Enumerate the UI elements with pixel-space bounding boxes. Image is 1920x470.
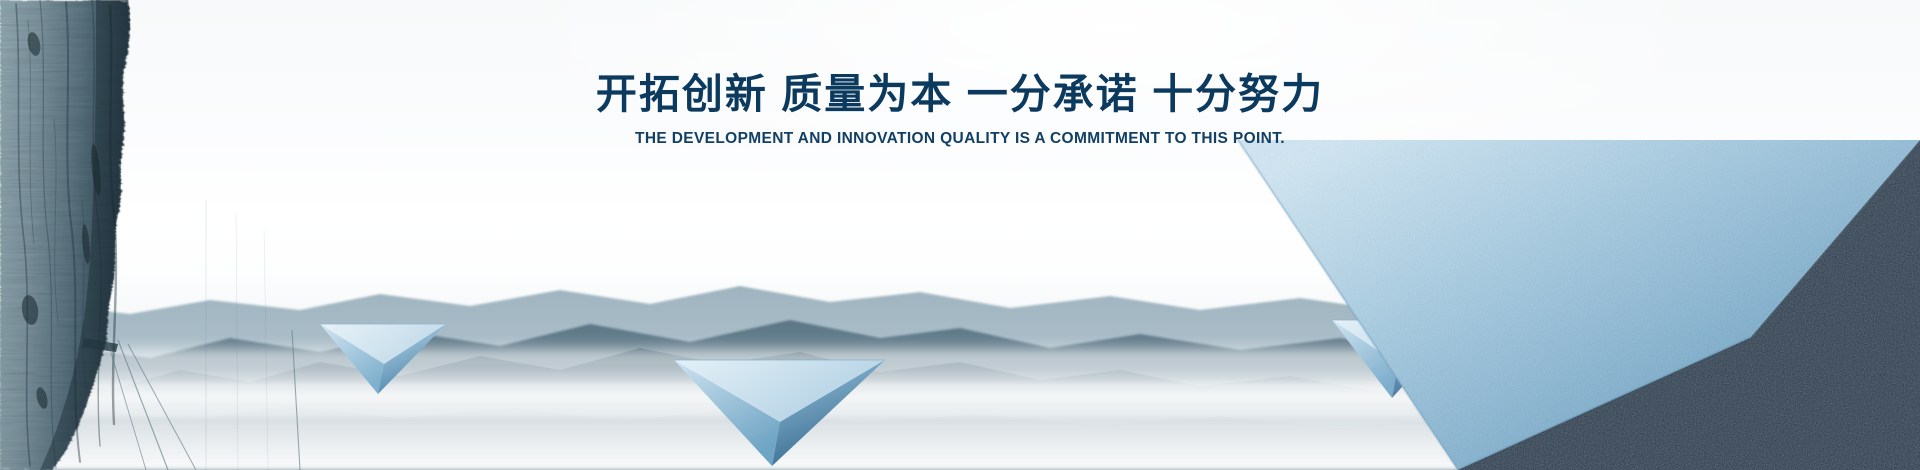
hero-banner: 开拓创新 质量为本 一分承诺 十分努力 THE DEVELOPMENT AND … (0, 0, 1920, 470)
small-inverted-pyramid-middle (672, 352, 887, 470)
cable-wires (0, 0, 420, 470)
large-inverted-pyramid (1220, 140, 1920, 470)
